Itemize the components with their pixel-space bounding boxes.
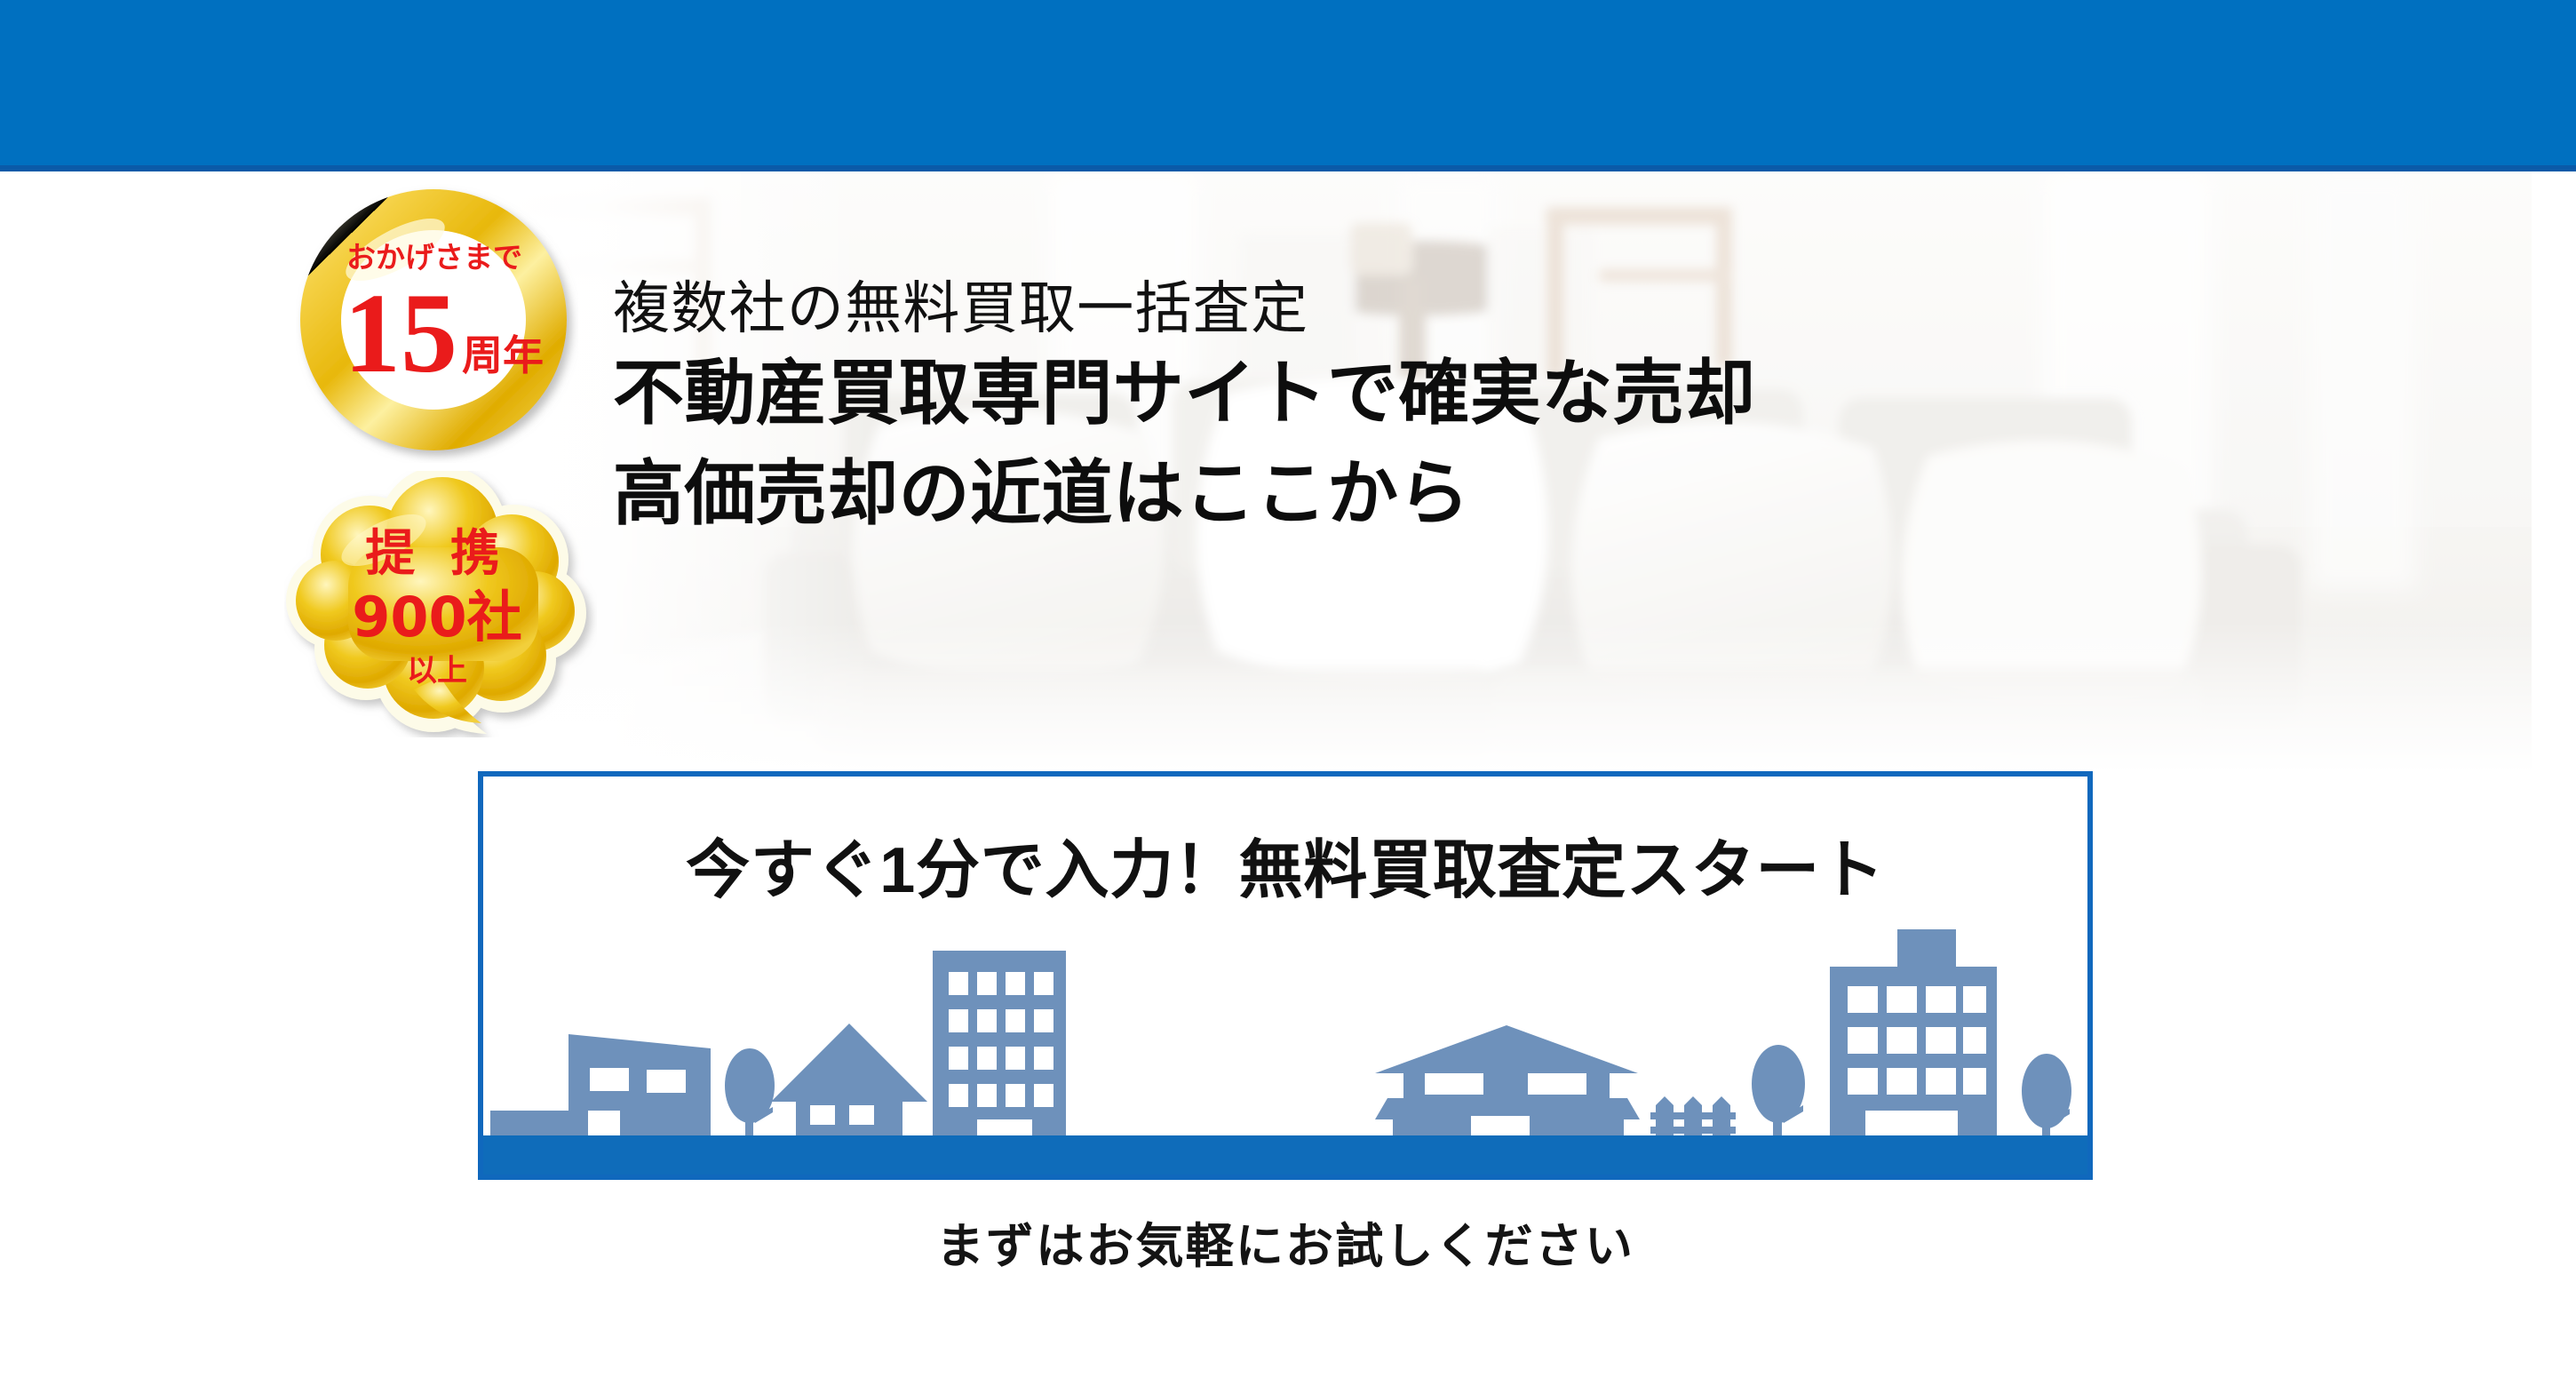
footer-note: まずはお気軽にお試しください xyxy=(478,1207,2093,1277)
cta-box[interactable]: 今すぐ1分で入力！無料買取査定スタート xyxy=(478,771,2093,1180)
top-blue-bar xyxy=(0,0,2576,171)
partner-line1: 提 携 xyxy=(365,525,509,583)
hero-headline-block: 複数社の無料買取一括査定 不動産買取専門サイトで確実な売却 高価売却の近道はここ… xyxy=(613,275,1999,545)
townscape-illustration xyxy=(483,917,2087,1175)
anniversary-unit: 周年 xyxy=(462,331,544,379)
hero-headline-line-2: 高価売却の近道はここから xyxy=(613,443,1999,545)
partner-line2: 900社 xyxy=(352,585,521,649)
anniversary-number: 15 xyxy=(344,270,457,396)
partner-companies-badge: 提 携 900社 以上 xyxy=(284,471,597,737)
partner-line3: 以上 xyxy=(407,653,467,689)
15th-anniversary-badge: おかげさまで 15 周年 xyxy=(296,180,578,463)
landing-page: おかげさまで 15 周年 xyxy=(0,0,2576,1386)
cta-title: 今すぐ1分で入力！無料買取査定スタート xyxy=(483,817,2087,911)
hero-headline-line-1: 不動産買取専門サイトで確実な売却 xyxy=(613,343,1999,444)
hero-subheading: 複数社の無料買取一括査定 xyxy=(613,275,1999,343)
